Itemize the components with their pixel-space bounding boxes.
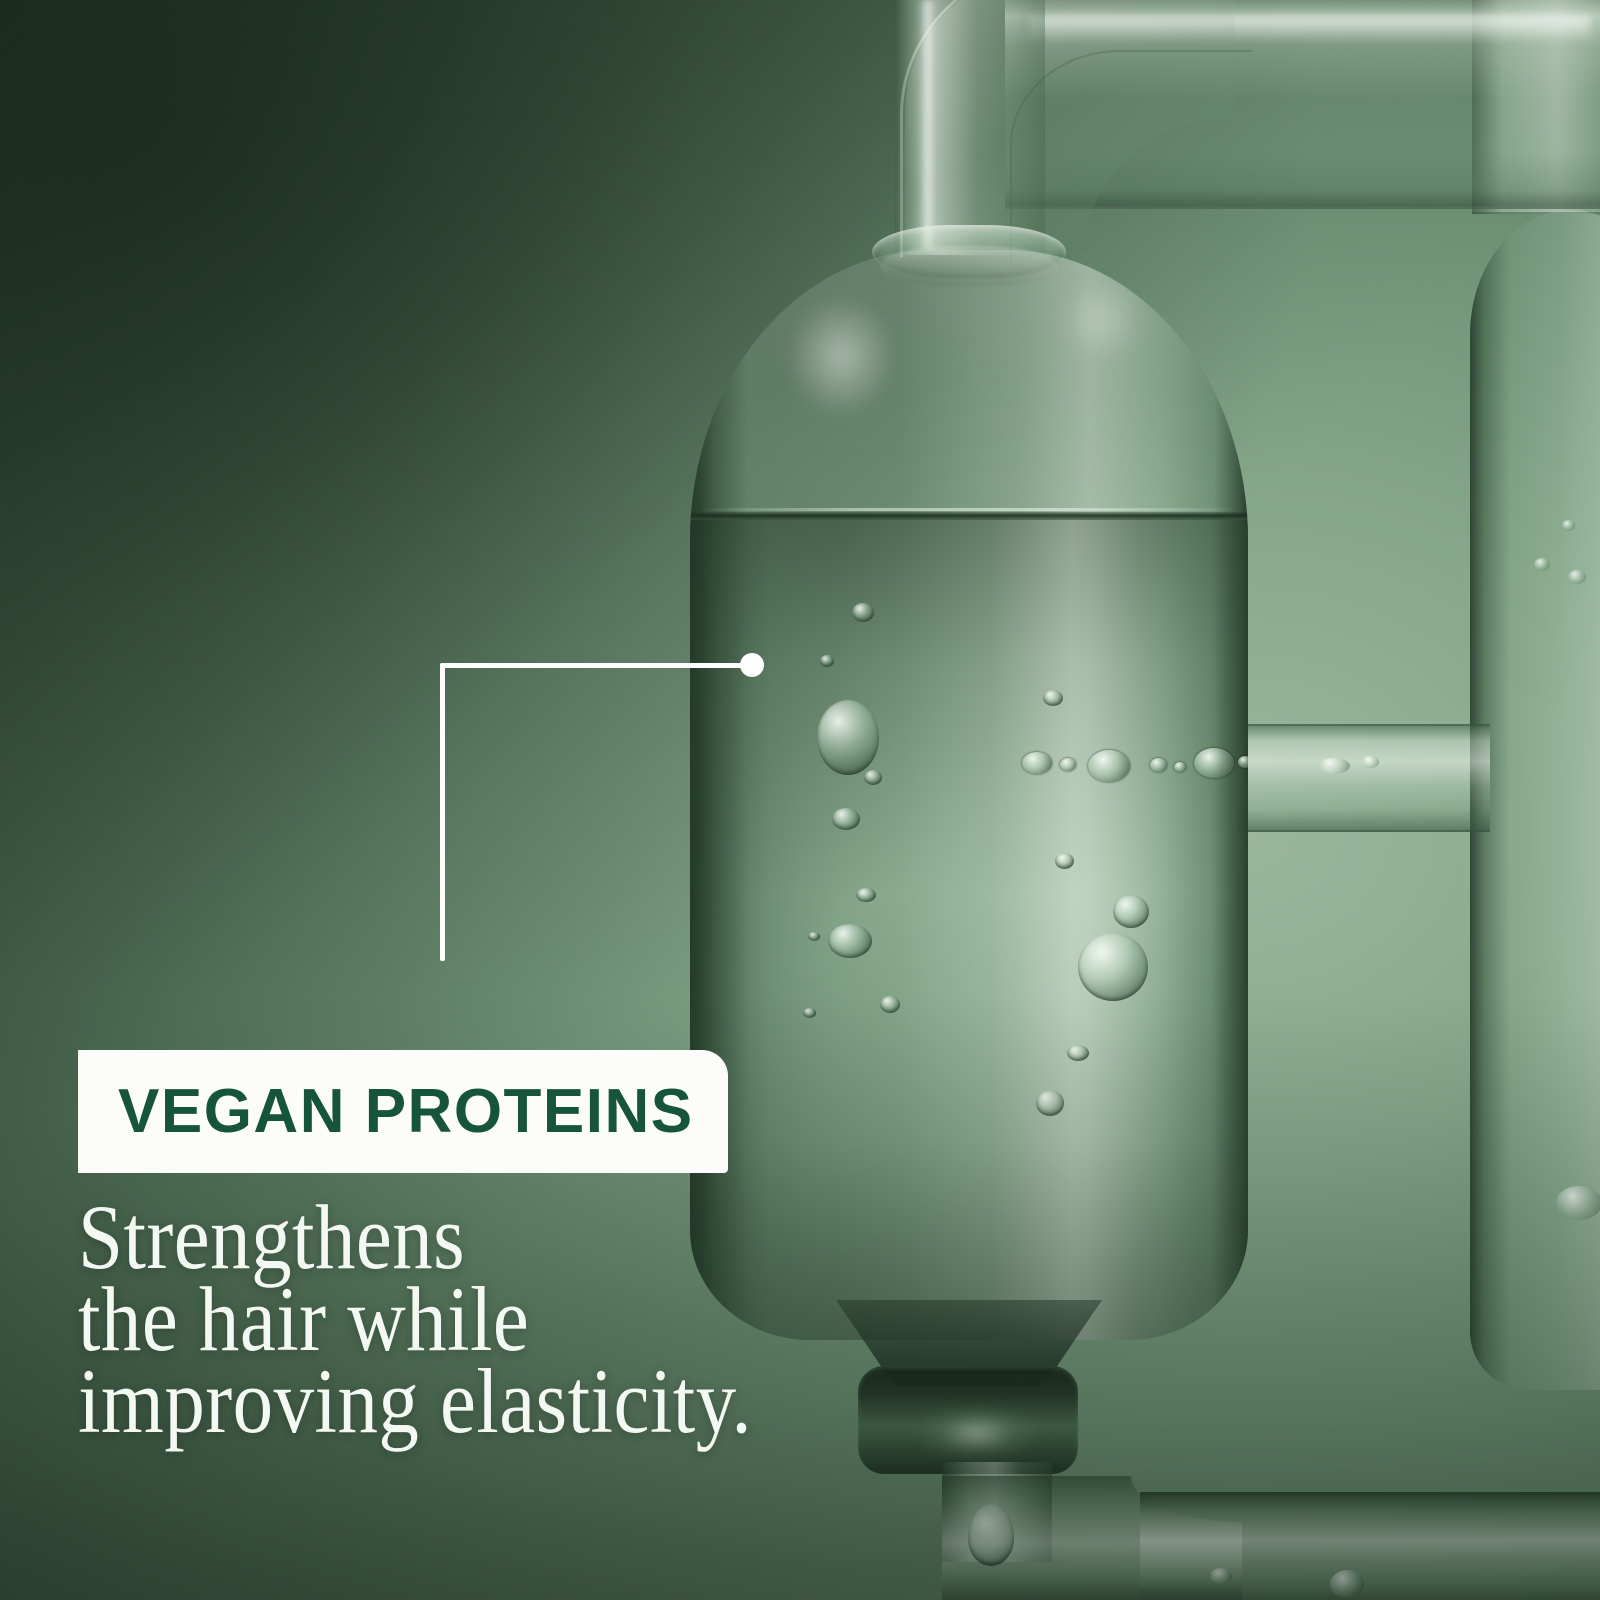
headline-line-3: improving elasticity.: [78, 1360, 835, 1442]
headline-line-2: the hair while: [78, 1278, 835, 1360]
headline-copy: Strengthens the hair while improving ela…: [78, 1196, 938, 1442]
headline-line-1: Strengthens: [78, 1196, 835, 1278]
callout-leader-horizontal: [440, 663, 752, 668]
callout-target-dot: [740, 653, 764, 677]
ingredient-badge-label: VEGAN PROTEINS: [118, 1081, 694, 1143]
promo-scene: VEGAN PROTEINS Strengthens the hair whil…: [0, 0, 1600, 1600]
callout-leader-vertical: [440, 663, 445, 961]
ingredient-badge: VEGAN PROTEINS: [78, 1050, 728, 1173]
